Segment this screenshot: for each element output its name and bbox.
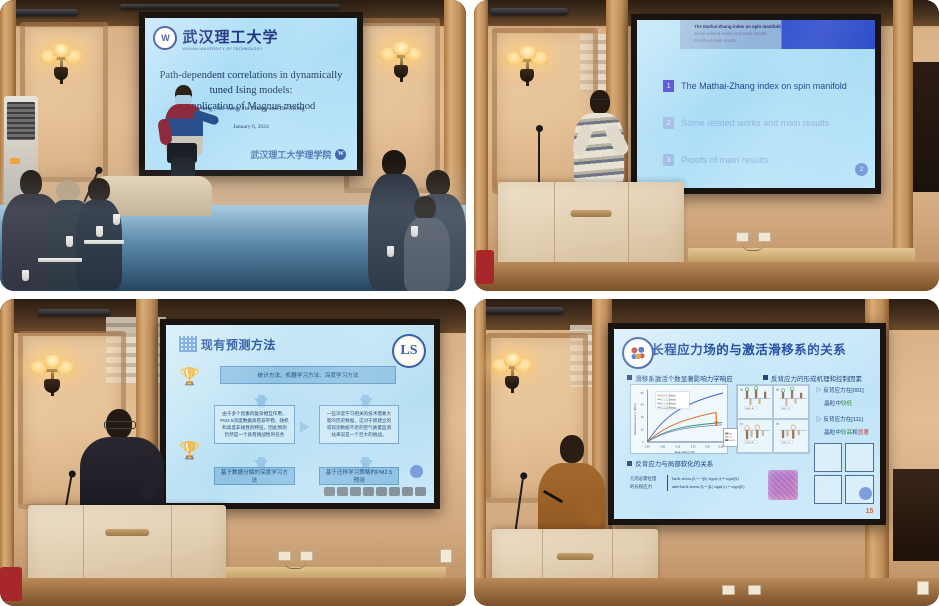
wall-sconce-left — [38, 42, 84, 86]
wall-column-left — [474, 299, 486, 606]
dislocation-cube-image — [768, 470, 797, 500]
bullet-left: 滑移系激活个数显著影响力学响应 — [627, 373, 733, 383]
toolbar-button[interactable] — [415, 487, 426, 496]
document-on-table — [84, 240, 124, 244]
flow-result-left: 基于数据分解的深度学习方法 — [214, 467, 294, 485]
side-note-2-body: 晶粒中较高和显著 — [824, 428, 869, 436]
svg-text:(a): (a) — [741, 390, 744, 392]
side-note-2-head: ▷ 反背应力在[111] — [816, 415, 863, 423]
toolbar-button[interactable] — [389, 487, 400, 496]
outline-item-1: 1 The Mathai-Zhang index on spin manifol… — [663, 80, 847, 92]
slide-footer-badge-icon: W — [335, 149, 346, 160]
bar-panel-c: (c) [111] / A3 — [737, 419, 773, 453]
slide-page-badge — [410, 465, 423, 478]
photo-panel-top-right: The Mathai-Zhang index on spin manifold … — [474, 0, 939, 291]
svg-text:(b): (b) — [777, 390, 780, 392]
document-on-table — [38, 258, 82, 262]
side-note-1-body: 晶粒中较低 — [824, 399, 852, 407]
photo-panel-bottom-left: 现有预测方法 LS 🏆 🏆 统计方法、机器学习方法、深度学习方法 由于多个因素的… — [0, 299, 466, 606]
outline-label: Proofs of main results — [681, 155, 768, 165]
lectern-nameplate — [557, 553, 594, 560]
power-outlet — [748, 585, 761, 595]
trophy-icon: 🏆 — [179, 368, 200, 385]
power-cable — [284, 558, 306, 569]
projection-screen-frame: 现有预测方法 LS 🏆 🏆 统计方法、机器学习方法、深度学习方法 由于多个因素的… — [160, 319, 440, 509]
wall-sconce-left — [28, 353, 76, 399]
photo-panel-bottom-right: 长程应力场的与激活滑移系的关系 滑移系激活个数显著影响力学响应 反背应力的形成机… — [474, 299, 939, 606]
flow-top-bar: 统计方法、机器学习方法、深度学习方法 — [220, 366, 397, 384]
flow-box-right: 一些深度学习相关的技术需要大量的历史数据，这对于新建立的或观测数据不足的空气质量… — [319, 405, 399, 444]
svg-text:Shear strain γr (%): Shear strain γr (%) — [675, 450, 695, 454]
ceiling-rail — [120, 4, 340, 9]
logo-mark-icon: W — [153, 26, 177, 50]
paper-cup — [96, 226, 103, 237]
formula-line-1: back stress βᵢ = −|βᵢ| sign(τᵢ) ≠ sign(β… — [672, 475, 744, 483]
slide-header-band: The Mathai-Zhang index on spin manifold … — [680, 20, 875, 49]
slide-page-number: 15 — [866, 508, 874, 515]
svg-text:0.00: 0.00 — [645, 445, 650, 449]
crystal-schematic-3 — [814, 475, 843, 504]
slide-page-badge: 2 — [855, 163, 868, 176]
toolbar-button[interactable] — [337, 487, 348, 496]
slide-title: 现有预测方法 — [201, 336, 276, 353]
paper-cup — [22, 270, 29, 281]
header-line-1: The Mathai-Zhang index on spin manifold — [694, 24, 781, 31]
svg-text:20: 20 — [641, 427, 644, 431]
header-line-2: Some related works and main results — [694, 31, 766, 38]
outline-slide: The Mathai-Zhang index on spin manifold … — [637, 20, 875, 188]
wall-sconce-left — [490, 351, 534, 395]
ceiling-light-bar — [484, 307, 564, 314]
paper-cup — [387, 246, 394, 257]
paper-cup — [411, 226, 418, 237]
power-outlet — [722, 585, 735, 595]
bullet-right: 反背应力的形成机理和控制因素 — [763, 373, 862, 383]
logo-en-text: WUHAN UNIVERSITY OF TECHNOLOGY — [182, 47, 278, 51]
bar-panel-grid: (a) [001] / A3 — [736, 384, 810, 454]
lectern-nameplate — [571, 210, 612, 217]
slide-title: 长程应力场的与激活滑移系的关系 — [651, 339, 846, 358]
outline-item-2: 2 Some related works and main results — [663, 117, 829, 129]
logo-cn-text: 武汉理工大学 — [182, 26, 278, 47]
light-switch[interactable] — [917, 581, 929, 595]
formula-line-2: anti-back stress βᵢ = |βᵢ| sign(τᵢ) = si… — [672, 483, 744, 491]
wall-column-left — [0, 299, 14, 606]
svg-text:C3: C3 — [730, 437, 732, 439]
glasses-icon — [104, 421, 136, 429]
toolbar-button[interactable] — [363, 487, 374, 496]
svg-text:[001] / C3: [001] / C3 — [782, 408, 790, 410]
photo-panel-top-left: W 武汉理工大学 WUHAN UNIVERSITY OF TECHNOLOGY … — [0, 0, 466, 291]
outline-number-icon: 3 — [663, 154, 674, 166]
results-slide: 长程应力场的与激活滑移系的关系 滑移系激活个数显著影响力学响应 反背应力的形成机… — [614, 329, 880, 519]
flow-result-right: 基于迁移学习策略的PM2.5预测 — [319, 467, 399, 485]
outline-number-icon: 1 — [663, 80, 674, 92]
svg-text:[1 1 0] Elastic: [1 1 0] Elastic — [662, 401, 677, 405]
toolbar-button[interactable] — [324, 487, 335, 496]
power-cable — [742, 240, 764, 251]
svg-text:A3: A3 — [730, 432, 732, 435]
crystal-schematic-2 — [845, 443, 874, 472]
lectern-nameplate — [105, 529, 149, 536]
svg-text:0.05: 0.05 — [660, 445, 665, 449]
svg-text:(d): (d) — [777, 424, 780, 426]
svg-text:0.15: 0.15 — [691, 445, 696, 449]
dark-cabinet — [893, 469, 939, 561]
institute-emblem-icon — [622, 337, 654, 369]
svg-text:[111] / C3: [111] / C3 — [782, 442, 790, 444]
bar-panel-b: (b) [001] / C3 — [773, 385, 809, 419]
svg-text:[1 1 1] Elastic: [1 1 1] Elastic — [662, 397, 677, 401]
ceiling-light-bar — [490, 8, 568, 15]
crystal-schematic-1 — [814, 443, 843, 472]
university-logo: W 武汉理工大学 WUHAN UNIVERSITY OF TECHNOLOGY — [153, 26, 278, 51]
ceiling-light-bar — [38, 309, 110, 316]
toolbar-button[interactable] — [350, 487, 361, 496]
audience-member — [404, 196, 450, 291]
outline-label: The Mathai-Zhang index on spin manifold — [681, 81, 847, 91]
svg-text:0.10: 0.10 — [676, 445, 681, 449]
fire-extinguisher — [476, 250, 494, 284]
projection-screen-frame: The Mathai-Zhang index on spin manifold … — [631, 14, 881, 194]
formula-block: back stress βᵢ = −|βᵢ| sign(τᵢ) ≠ sign(β… — [667, 475, 744, 491]
light-switch[interactable] — [440, 549, 452, 563]
svg-text:60: 60 — [641, 402, 644, 406]
institute-badge-icon: LS — [392, 334, 426, 368]
bar-panel-a: (a) [001] / A3 — [737, 385, 773, 419]
glasses-icon — [590, 99, 610, 104]
svg-text:0.20: 0.20 — [705, 445, 710, 449]
fire-extinguisher — [0, 567, 22, 601]
svg-text:[1 1 0] Plastic: [1 1 0] Plastic — [662, 405, 677, 409]
paper-cup — [113, 214, 120, 225]
presentation-toolbar[interactable] — [324, 487, 426, 496]
side-note-1-head: ▷ 反背应力在[001] — [816, 386, 864, 394]
bullet-bottom: 反背应力与局部软化的关系 — [627, 458, 713, 468]
slide-footer-logo: 武汉理工大学理学院 W — [250, 148, 346, 161]
projection-screen-frame: 长程应力场的与激活滑移系的关系 滑移系激活个数显著影响力学响应 反背应力的形成机… — [608, 323, 886, 525]
svg-text:[0 0 1] Elastic: [0 0 1] Elastic — [662, 393, 677, 397]
svg-text:[111] / A3: [111] / A3 — [746, 441, 754, 444]
svg-text:40: 40 — [641, 415, 644, 419]
wall-sconce-right — [378, 40, 424, 84]
toolbar-button[interactable] — [376, 487, 387, 496]
bar-legend: A3 C3 A3+C3 — [723, 428, 738, 447]
header-line-3: Proofs of main results — [694, 38, 736, 45]
svg-text:Resolved stress τr (MPa): Resolved stress τr (MPa) — [633, 403, 637, 435]
svg-text:80: 80 — [641, 391, 644, 395]
flowchart-slide: 现有预测方法 LS 🏆 🏆 统计方法、机器学习方法、深度学习方法 由于多个因素的… — [166, 325, 434, 503]
outline-number-icon: 2 — [663, 117, 674, 129]
title-decoration-icon — [179, 336, 196, 352]
toolbar-button[interactable] — [402, 487, 413, 496]
svg-text:0: 0 — [642, 440, 644, 444]
paper-cup — [66, 236, 73, 247]
trophy-icon: 🏆 — [179, 442, 200, 459]
face-mask — [175, 95, 192, 104]
wall-column-left — [474, 0, 488, 291]
svg-text:[001] / A3: [001] / A3 — [746, 407, 754, 410]
stress-strain-chart: [0 0 1] Elastic [1 1 1] Elastic [1 1 0] … — [630, 384, 728, 454]
dark-doorway — [913, 62, 939, 192]
slide-footer-text: 武汉理工大学理学院 — [250, 148, 331, 161]
photo-collage: W 武汉理工大学 WUHAN UNIVERSITY OF TECHNOLOGY … — [0, 0, 939, 606]
wall-sconce-left — [504, 44, 550, 88]
bar-panel-d: (d) [111] / C3 — [773, 419, 809, 453]
ceiling-light-bar — [12, 9, 78, 16]
svg-text:(c): (c) — [741, 424, 744, 426]
chart-svg: [0 0 1] Elastic [1 1 1] Elastic [1 1 0] … — [631, 385, 727, 453]
formula-label: 几何必需位错 的长程应力 — [630, 475, 656, 491]
outline-item-3: 3 Proofs of main results — [663, 154, 768, 166]
svg-text:A3+C3: A3+C3 — [730, 439, 735, 442]
flow-box-left: 由于多个因素的复杂相互作用，PM2.5浓度数据具有非平稳、随机和高度非线性的特征… — [214, 405, 294, 444]
outline-label: Some related works and main results — [681, 118, 829, 128]
slide-page-badge — [859, 487, 872, 500]
